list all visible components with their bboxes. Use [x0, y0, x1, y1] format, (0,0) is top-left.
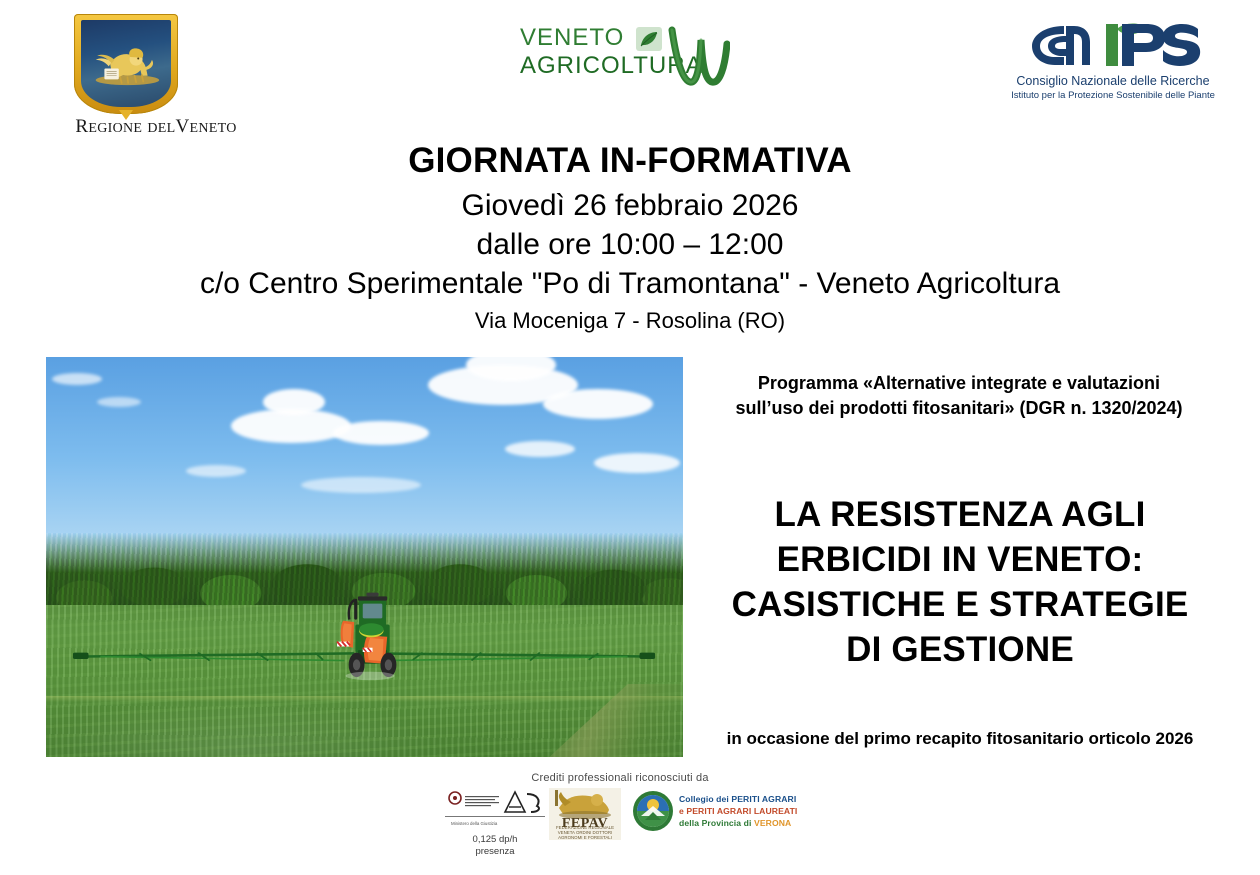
cnr-institute-name: Istituto per la Protezione Sostenibile d…	[1008, 90, 1218, 101]
tractor-sprayer-icon	[307, 589, 434, 693]
cnr-institution-name: Consiglio Nazionale delle Ricerche	[1008, 74, 1218, 88]
collegio-periti-agrari-logo: Collegio dei PERITI AGRARI e PERITI AGRA…	[631, 788, 807, 838]
fepav-subtitle: FEDERAZIONE REGIONALE VENETA ORDINI DOTT…	[549, 825, 621, 840]
collegio-line-3-prefix: della Provincia di	[679, 818, 754, 828]
event-hours: dalle ore 10:00 – 12:00	[0, 225, 1260, 264]
credit-unit: presenza	[445, 846, 545, 858]
veneto-shield-icon	[74, 14, 178, 114]
regione-del-veneto-logo: REGIONE DELVENETO	[46, 14, 266, 136]
collegio-line-2: e PERITI AGRARI LAUREATI	[679, 806, 797, 816]
collegio-line-3: della Provincia di VERONA	[679, 818, 791, 828]
credits-caption: Crediti professionali riconosciuti da	[430, 772, 810, 784]
seminar-heading-line-1: LA RESISTENZA AGLI	[700, 492, 1220, 537]
programma-line-2: sull’uso dei prodotti fitosanitari» (DGR…	[705, 396, 1213, 421]
cnr-ipsp-mark-icon	[1022, 16, 1208, 72]
collegio-line-1: Collegio dei PERITI AGRARI	[679, 794, 796, 804]
event-title: GIORNATA IN-FORMATIVA	[0, 140, 1260, 182]
seminar-heading: LA RESISTENZA AGLI ERBICIDI IN VENETO: C…	[700, 492, 1220, 672]
fepav-logo: FEPAV FEDERAZIONE REGIONALE VENETA ORDIN…	[549, 788, 621, 840]
poster-page: REGIONE DELVENETO VENETO AGRICOLTURA	[0, 0, 1260, 875]
field-sprayer-photo	[46, 357, 683, 757]
event-date: Giovedì 26 febbraio 2026	[0, 186, 1260, 225]
seminar-heading-line-4: DI GESTIONE	[700, 627, 1220, 672]
regione-del-veneto-wordmark: REGIONE DELVENETO	[46, 116, 266, 138]
svg-text:Ministero della Giustizia: Ministero della Giustizia	[451, 821, 498, 826]
credit-value-block: 0,125 dp/h presenza	[445, 834, 545, 858]
leaf-badge-icon	[636, 27, 662, 51]
occasione-text: in occasione del primo recapito fitosani…	[700, 727, 1220, 750]
credit-value: 0,125 dp/h	[445, 834, 545, 846]
collegio-emblem-icon	[631, 790, 675, 832]
regione-initial-r: R	[75, 116, 88, 137]
event-venue: c/o Centro Sperimentale "Po di Tramontan…	[0, 264, 1260, 304]
programma-line-1: Programma «Alternative integrate e valut…	[705, 371, 1213, 396]
programma-text: Programma «Alternative integrate e valut…	[705, 371, 1213, 421]
credit-logos-row: Ministero della Giustizia 0,125 dp/h pre…	[445, 790, 805, 870]
regione-word-del: DEL	[147, 121, 175, 136]
seminar-heading-line-2: ERBICIDI IN VENETO:	[700, 537, 1220, 582]
title-block: GIORNATA IN-FORMATIVA Giovedì 26 febbrai…	[0, 140, 1260, 336]
seminar-heading-line-3: CASISTICHE E STRATEGIE	[700, 582, 1220, 627]
regione-word-eneto: ENETO	[189, 121, 236, 136]
ministero-agraria-logo: Ministero della Giustizia	[445, 790, 545, 830]
regione-word-egione: EGIONE	[88, 121, 142, 136]
event-address: Via Moceniga 7 - Rosolina (RO)	[0, 306, 1260, 336]
winged-lion-icon	[90, 39, 162, 89]
collegio-city: VERONA	[754, 818, 791, 828]
veneto-agricoltura-logo: VENETO AGRICOLTURA	[520, 22, 720, 92]
regione-initial-v: V	[175, 116, 189, 137]
veneto-agricoltura-swirl-icon	[668, 22, 730, 90]
cnr-ipsp-logo: Consiglio Nazionale delle Ricerche Istit…	[1008, 16, 1218, 108]
